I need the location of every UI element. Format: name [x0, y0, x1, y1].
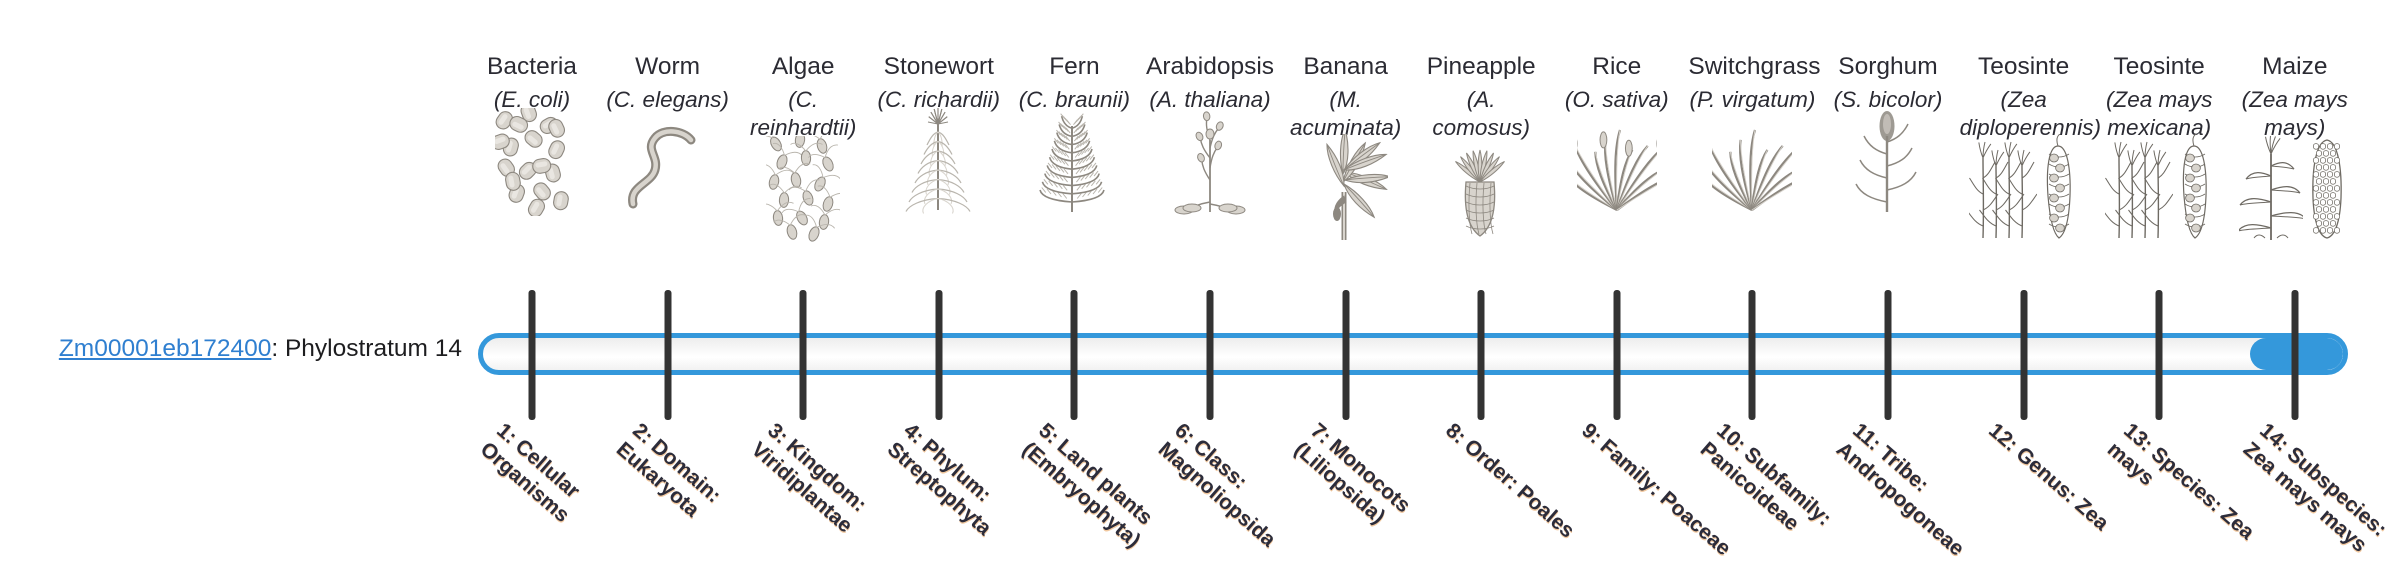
phylostratum-label-8: 8: Order: Poales — [1441, 418, 1601, 562]
phylostratum-tick-2 — [664, 290, 671, 420]
phylostratum-tick-9 — [1613, 290, 1620, 420]
phylostratum-tick-6 — [1207, 290, 1214, 420]
species-column-bacteria: Bacteria(E. coli) — [468, 52, 596, 216]
phylostratum-tick-1 — [529, 290, 536, 420]
species-common-name: Banana — [1282, 52, 1410, 82]
arabidopsis-illustration — [1146, 120, 1274, 216]
phylostratum-tick-5 — [1071, 290, 1078, 420]
rice-illustration — [1553, 120, 1681, 216]
species-common-name: Stonewort — [875, 52, 1003, 82]
phylostratum-rank-name: Genus: Zea — [2011, 443, 2112, 535]
algae-illustration — [739, 148, 867, 244]
species-column-worm: Worm(C. elegans) — [604, 52, 732, 216]
phylostratum-rank-name: Cellular Organisms — [476, 435, 584, 527]
phylostratum-tick-11 — [1885, 290, 1892, 420]
phylostratum-tick-7 — [1342, 290, 1349, 420]
phylostratum-tick-12 — [2020, 290, 2027, 420]
teosinte-plant-ear-illustration — [1960, 148, 2088, 244]
phylostratum-rank-name: Monocots (Liliopsida) — [1289, 435, 1414, 529]
species-common-name: Sorghum — [1824, 52, 1952, 82]
phylostratum-tick-13 — [2156, 290, 2163, 420]
phylostratum-label-row: 1: Cellular Organisms2: Domain: Eukaryot… — [0, 418, 2400, 580]
phylostratum-rank-name: Domain: Eukaryota — [611, 435, 724, 522]
species-column-stonewort: Stonewort(C. richardii) — [875, 52, 1003, 216]
maize-plant-ear-illustration — [2231, 148, 2359, 244]
phylostratum-tick-14 — [2291, 290, 2298, 420]
stonewort-illustration — [875, 120, 1003, 216]
species-column-switchgrass: Switchgrass(P. virgatum) — [1688, 52, 1816, 216]
species-common-name: Switchgrass — [1688, 52, 1816, 82]
species-column-teosinte: Teosinte(Zea diploperennis) — [1960, 52, 2088, 244]
species-column-fern: Fern(C. braunii) — [1010, 52, 1138, 216]
species-common-name: Pineapple — [1417, 52, 1545, 82]
species-column-banana: Banana(M. acuminata) — [1282, 52, 1410, 244]
species-scientific-name: (C. reinhardtii) — [739, 86, 867, 142]
phylostratum-rank-name: Kingdom: Viridiplantae — [747, 435, 871, 538]
fern-illustration — [1010, 120, 1138, 216]
species-common-name: Algae — [739, 52, 867, 82]
pineapple-illustration — [1417, 148, 1545, 244]
switchgrass-illustration — [1688, 120, 1816, 216]
species-common-name: Maize — [2231, 52, 2359, 82]
species-common-name: Teosinte — [1960, 52, 2088, 82]
phylostratum-tick-3 — [800, 290, 807, 420]
phylostratum-figure: Zm00001eb172400: Phylostratum 14 Bacteri… — [0, 0, 2400, 580]
phylostratum-tick-8 — [1478, 290, 1485, 420]
banana-illustration — [1282, 148, 1410, 244]
phylostratum-number: 12: — [1984, 419, 2022, 456]
species-common-name: Rice — [1553, 52, 1681, 82]
species-column-maize: Maize(Zea mays mays) — [2231, 52, 2359, 244]
teosinte-plant-ear-illustration — [2095, 148, 2223, 244]
species-column-rice: Rice(O. sativa) — [1553, 52, 1681, 216]
phylostratum-tick-row — [0, 290, 2400, 420]
phylostratum-tick-10 — [1749, 290, 1756, 420]
phylostratum-tick-4 — [935, 290, 942, 420]
species-column-pineapple: Pineapple(A. comosus) — [1417, 52, 1545, 244]
species-column-teosinte: Teosinte(Zea mays mexicana) — [2095, 52, 2223, 244]
phylostratum-rank-name: Order: Poales — [1460, 435, 1579, 543]
bacteria-illustration — [468, 120, 596, 216]
species-column-arabidopsis: Arabidopsis(A. thaliana) — [1146, 52, 1274, 216]
phylostratum-rank-name: Subfamily: Panicoideae — [1696, 438, 1836, 536]
species-common-name: Teosinte — [2095, 52, 2223, 82]
species-column-algae: Algae(C. reinhardtii) — [739, 52, 867, 244]
species-scientific-name: (C. elegans) — [604, 86, 732, 114]
worm-illustration — [604, 120, 732, 216]
species-column-sorghum: Sorghum(S. bicolor) — [1824, 52, 1952, 216]
sorghum-illustration — [1824, 120, 1952, 216]
species-common-name: Arabidopsis — [1146, 52, 1274, 82]
species-common-name: Bacteria — [468, 52, 596, 82]
species-common-name: Fern — [1010, 52, 1138, 82]
species-header-row: Bacteria(E. coli) — [0, 0, 2400, 310]
species-common-name: Worm — [604, 52, 732, 82]
